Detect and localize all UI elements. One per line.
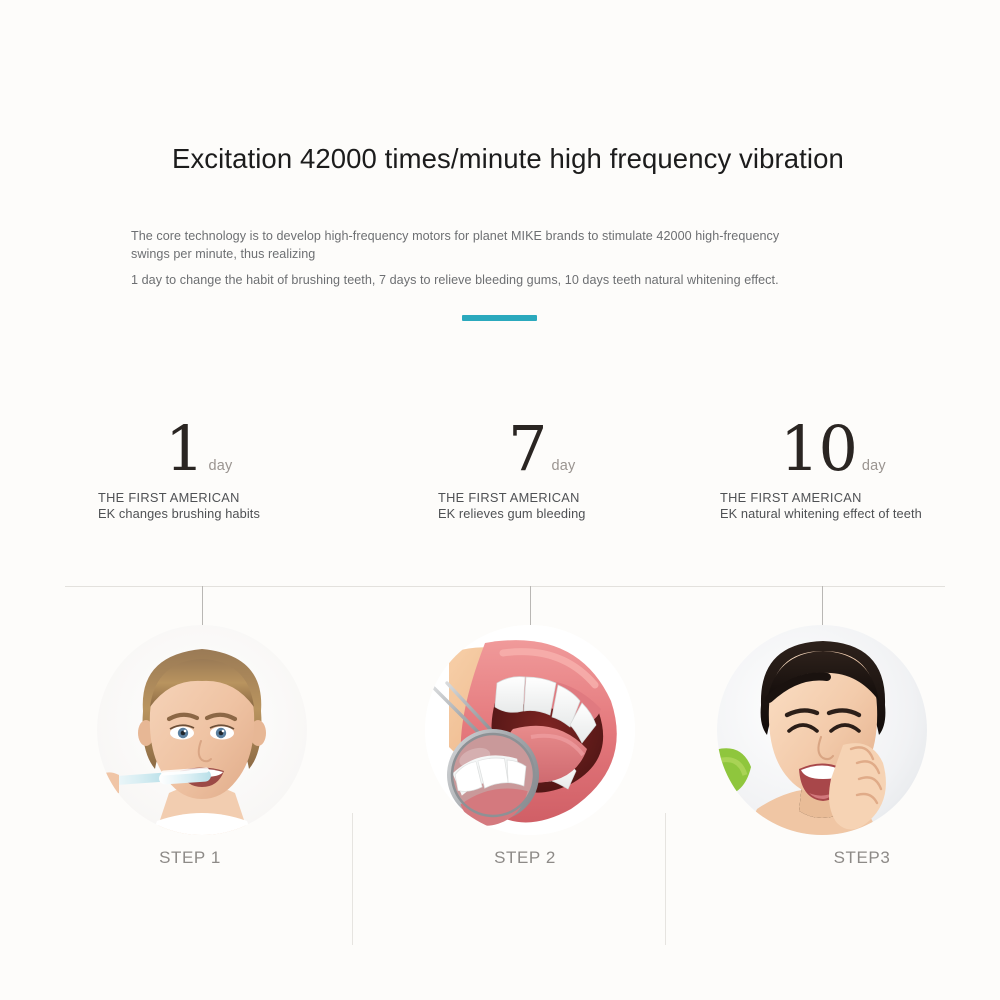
description-block: The core technology is to develop high-f… (131, 228, 791, 290)
timeline-subtext-1: EK changes brushing habits (98, 506, 338, 522)
step-label-2: STEP 2 (395, 848, 655, 868)
timeline-number-wrap-1: 1 day (90, 398, 390, 480)
timeline-heading-2: THE FIRST AMERICAN (438, 490, 678, 506)
timeline-heading-3: THE FIRST AMERICAN (720, 490, 960, 506)
timeline-item-1: 1 day THE FIRST AMERICAN EK changes brus… (90, 398, 390, 563)
timeline-subtext-3: EK natural whitening effect of teeth (720, 506, 960, 522)
timeline-number-2: 7 (508, 418, 546, 480)
page-title: Excitation 42000 times/minute high frequ… (172, 143, 844, 175)
open-mouth-dental-mirror-illustration (425, 625, 635, 835)
step-label-1: STEP 1 (60, 848, 320, 868)
timeline-item-2: 7 day THE FIRST AMERICAN EK relieves gum… (430, 398, 730, 563)
timeline-text-1: THE FIRST AMERICAN EK changes brushing h… (98, 490, 338, 521)
infographic-page: Excitation 42000 times/minute high frequ… (0, 0, 1000, 1000)
description-paragraph-1: The core technology is to develop high-f… (131, 228, 791, 263)
step-connector-1 (202, 586, 203, 626)
timeline-unit-1: day (208, 458, 232, 474)
timeline-unit-3: day (862, 458, 886, 474)
woman-brushing-teeth-photo (97, 625, 307, 835)
accent-divider-bar (462, 315, 537, 321)
timeline-item-3: 10 day THE FIRST AMERICAN EK natural whi… (712, 398, 1000, 563)
timeline-text-2: THE FIRST AMERICAN EK relieves gum bleed… (438, 490, 678, 521)
timeline-section: 1 day THE FIRST AMERICAN EK changes brus… (0, 398, 1000, 563)
steps-section: STEP 1 (0, 586, 1000, 876)
smiling-woman-white-teeth-photo (717, 625, 927, 835)
timeline-number-1: 1 (165, 418, 203, 480)
timeline-text-3: THE FIRST AMERICAN EK natural whitening … (720, 490, 960, 521)
timeline-number-wrap-3: 10 day (712, 398, 1000, 480)
timeline-number-3: 10 (780, 418, 857, 480)
step-connector-2 (530, 586, 531, 626)
timeline-subtext-2: EK relieves gum bleeding (438, 506, 678, 522)
step-label-3: STEP3 (732, 848, 992, 868)
timeline-number-wrap-2: 7 day (430, 398, 730, 480)
timeline-unit-2: day (551, 458, 575, 474)
timeline-heading-1: THE FIRST AMERICAN (98, 490, 338, 506)
step-connector-3 (822, 586, 823, 626)
description-paragraph-2: 1 day to change the habit of brushing te… (131, 272, 791, 290)
